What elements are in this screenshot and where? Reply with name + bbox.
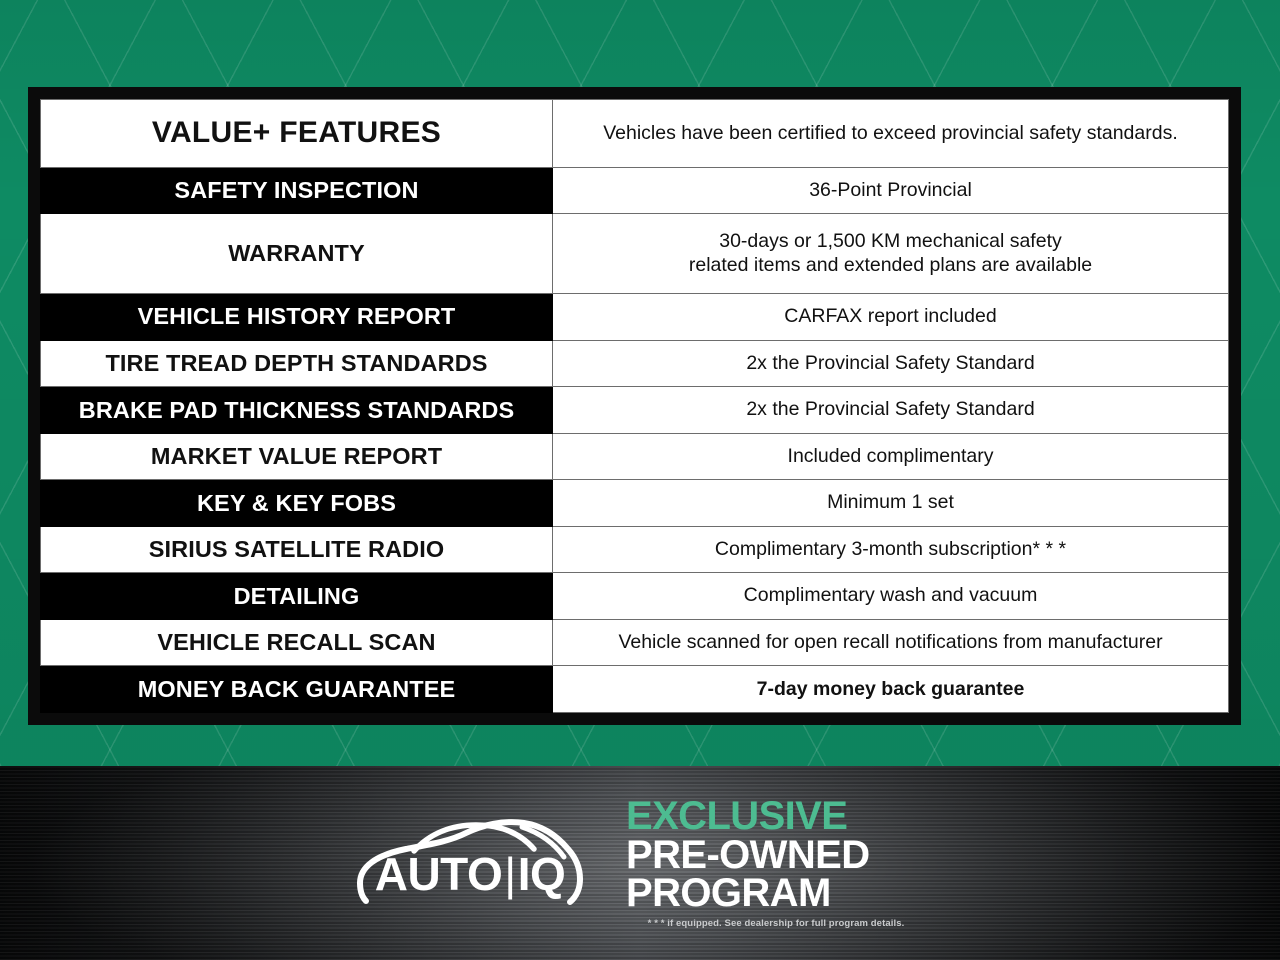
promo-text-block: EXCLUSIVE PRE-OWNED PROGRAM * * * if equ… [626, 797, 926, 929]
feature-value: CARFAX report included [553, 294, 1229, 341]
feature-label: VEHICLE HISTORY REPORT [41, 294, 553, 341]
logo-separator: | [502, 848, 517, 900]
feature-value-line-2: related items and extended plans are ava… [561, 254, 1220, 277]
footer-content: AUTO|IQ EXCLUSIVE PRE-OWNED PROGRAM * * … [0, 766, 1280, 960]
logo-auto-text: AUTO [375, 848, 503, 900]
feature-value: Complimentary wash and vacuum [553, 573, 1229, 620]
feature-label: SAFETY INSPECTION [41, 167, 553, 214]
feature-label: BRAKE PAD THICKNESS STANDARDS [41, 387, 553, 434]
table-row: DETAILINGComplimentary wash and vacuum [41, 573, 1229, 620]
feature-label: MONEY BACK GUARANTEE [41, 666, 553, 713]
feature-value: 30-days or 1,500 KM mechanical safetyrel… [553, 214, 1229, 294]
feature-value: Included complimentary [553, 433, 1229, 480]
feature-value: Complimentary 3-month subscription* * * [553, 526, 1229, 573]
table-row: VEHICLE HISTORY REPORTCARFAX report incl… [41, 294, 1229, 341]
feature-label: WARRANTY [41, 214, 553, 294]
value-features-table: VALUE+ FEATURES Vehicles have been certi… [40, 99, 1229, 713]
header-description: Vehicles have been certified to exceed p… [553, 100, 1229, 168]
table-row: TIRE TREAD DEPTH STANDARDS2x the Provinc… [41, 340, 1229, 387]
feature-value: 7-day money back guarantee [553, 666, 1229, 713]
feature-label: TIRE TREAD DEPTH STANDARDS [41, 340, 553, 387]
feature-value: Minimum 1 set [553, 480, 1229, 527]
table-row: VEHICLE RECALL SCANVehicle scanned for o… [41, 619, 1229, 666]
feature-value: Vehicle scanned for open recall notifica… [553, 619, 1229, 666]
feature-value: 36-Point Provincial [553, 167, 1229, 214]
feature-label: KEY & KEY FOBS [41, 480, 553, 527]
autoiq-wordmark: AUTO|IQ [354, 851, 586, 897]
promo-line-program: PROGRAM [626, 874, 926, 913]
feature-label: VEHICLE RECALL SCAN [41, 619, 553, 666]
page-title: VALUE+ FEATURES [41, 100, 553, 168]
table-row: BRAKE PAD THICKNESS STANDARDS2x the Prov… [41, 387, 1229, 434]
promo-line-exclusive: EXCLUSIVE [626, 797, 926, 836]
autoiq-logo: AUTO|IQ [354, 811, 586, 915]
promo-line-pre-owned: PRE-OWNED [626, 836, 926, 875]
value-features-table-frame: VALUE+ FEATURES Vehicles have been certi… [28, 87, 1241, 725]
logo-iq-text: IQ [518, 848, 566, 900]
feature-label: DETAILING [41, 573, 553, 620]
feature-value: 2x the Provincial Safety Standard [553, 387, 1229, 434]
table-row: SIRIUS SATELLITE RADIOComplimentary 3-mo… [41, 526, 1229, 573]
table-row: MONEY BACK GUARANTEE7-day money back gua… [41, 666, 1229, 713]
table-row: SAFETY INSPECTION36-Point Provincial [41, 167, 1229, 214]
table-row: KEY & KEY FOBSMinimum 1 set [41, 480, 1229, 527]
table-row: WARRANTY30-days or 1,500 KM mechanical s… [41, 214, 1229, 294]
feature-label: SIRIUS SATELLITE RADIO [41, 526, 553, 573]
table-header-row: VALUE+ FEATURES Vehicles have been certi… [41, 100, 1229, 168]
promo-disclaimer: * * * if equipped. See dealership for fu… [626, 918, 926, 929]
feature-value-line-1: 30-days or 1,500 KM mechanical safety [561, 230, 1220, 253]
feature-value: 2x the Provincial Safety Standard [553, 340, 1229, 387]
table-row: MARKET VALUE REPORTIncluded complimentar… [41, 433, 1229, 480]
feature-label: MARKET VALUE REPORT [41, 433, 553, 480]
value-plus-features-page: VALUE+ FEATURES Vehicles have been certi… [0, 0, 1280, 960]
